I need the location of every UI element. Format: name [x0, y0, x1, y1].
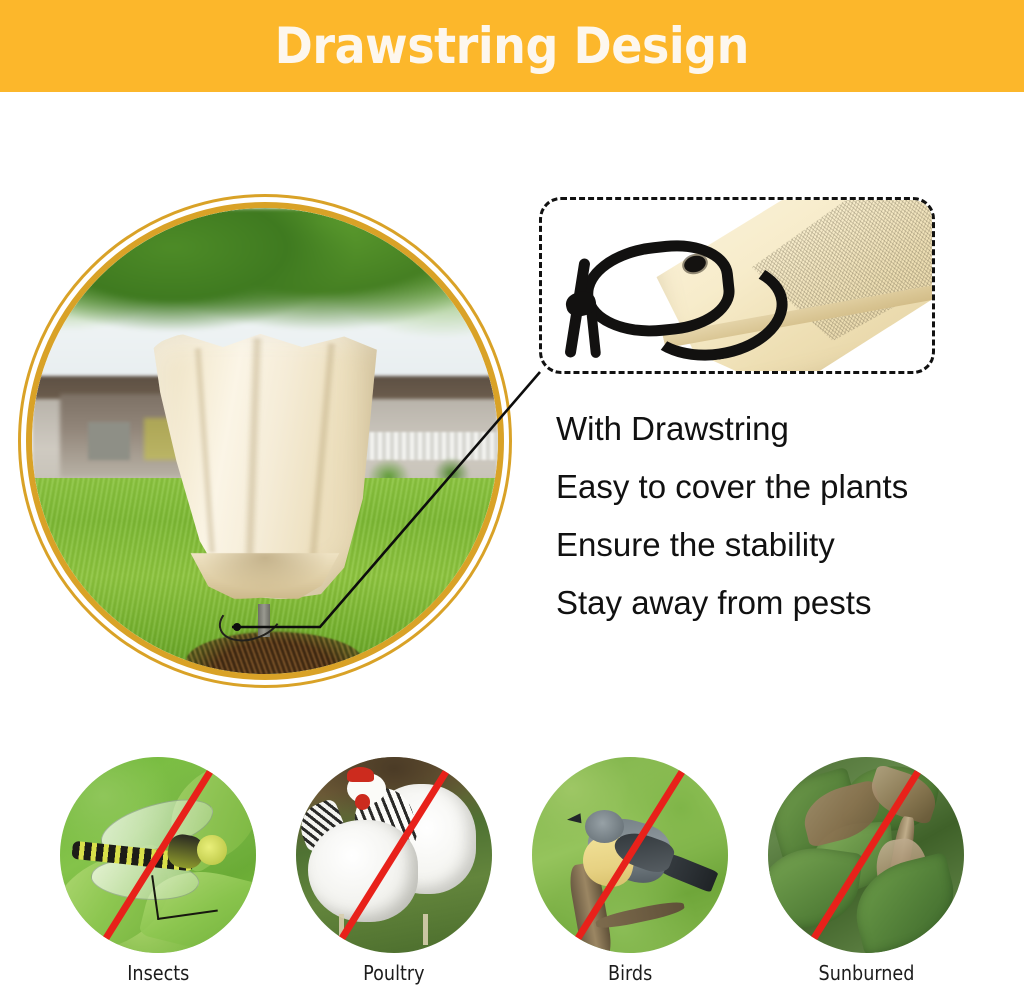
sunburned-photo — [768, 757, 964, 953]
feature-list: With Drawstring Easy to cover the plants… — [556, 412, 986, 644]
protection-label: Sunburned — [818, 961, 914, 985]
feature-item: Stay away from pests — [556, 586, 986, 619]
drawstring-detail-callout — [539, 197, 935, 374]
dragonfly-legs — [151, 867, 217, 920]
protection-item-insects: Insects — [60, 757, 256, 992]
plant-cover-photo — [32, 208, 498, 674]
page-title: Drawstring Design — [275, 21, 749, 71]
protection-label: Poultry — [363, 961, 424, 985]
hero-circle-frame — [18, 194, 512, 688]
poultry-photo — [296, 757, 492, 953]
feature-item: Ensure the stability — [556, 528, 986, 561]
protection-item-sunburned: Sunburned — [768, 757, 964, 992]
birds-photo — [532, 757, 728, 953]
feature-item: With Drawstring — [556, 412, 986, 445]
bird-beak — [567, 813, 582, 824]
protection-item-poultry: Poultry — [296, 757, 492, 992]
protection-label: Insects — [127, 961, 189, 985]
protection-label: Birds — [608, 961, 652, 985]
hero-circle-ring — [26, 202, 504, 680]
dragonfly-head — [197, 835, 226, 864]
house-window-left — [88, 422, 130, 459]
feature-item: Easy to cover the plants — [556, 470, 986, 503]
insects-photo — [60, 757, 256, 953]
header-banner: Drawstring Design — [0, 0, 1024, 92]
protection-row: Insects Poultry Bi — [60, 757, 964, 992]
chicken-comb — [347, 767, 374, 783]
protection-item-birds: Birds — [532, 757, 728, 992]
